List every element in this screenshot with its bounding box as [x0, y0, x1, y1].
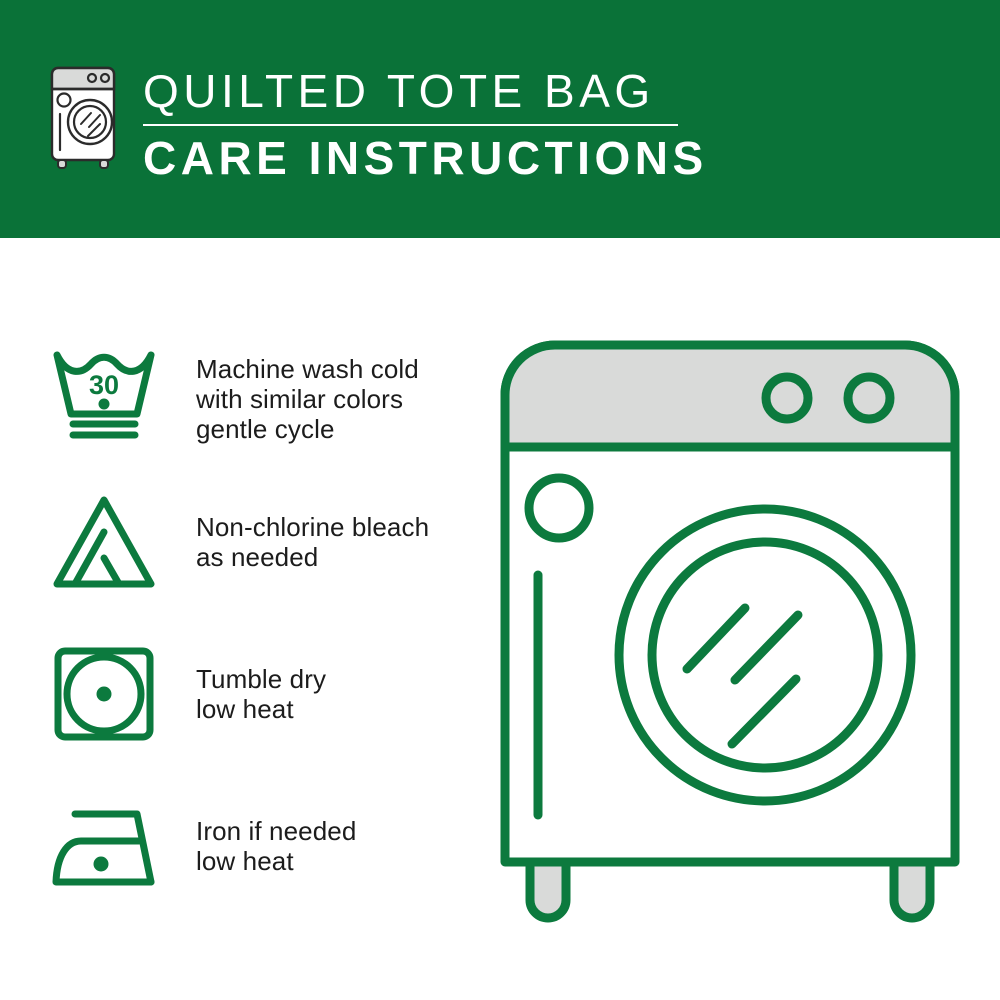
wash-tub-30-icon: 30	[48, 340, 166, 444]
header-banner: QUILTED TOTE BAG CARE INSTRUCTIONS	[0, 0, 1000, 238]
care-text-bleach: Non-chlorine bleach as needed	[196, 490, 429, 572]
header-content: QUILTED TOTE BAG CARE INSTRUCTIONS	[45, 62, 708, 184]
care-line: low heat	[196, 846, 356, 876]
care-line: low heat	[196, 694, 326, 724]
care-row-bleach: Non-chlorine bleach as needed	[48, 490, 478, 594]
machine-leg-right	[894, 860, 930, 918]
washing-machine-icon	[45, 62, 129, 170]
care-row-tumble-dry: Tumble dry low heat	[48, 642, 478, 746]
care-row-machine-wash: 30 Machine wash cold with similar colors…	[48, 340, 478, 444]
header-title-group: QUILTED TOTE BAG CARE INSTRUCTIONS	[143, 62, 708, 184]
wash-temperature-label: 30	[89, 370, 119, 400]
page-title-care-instructions: CARE INSTRUCTIONS	[143, 132, 708, 184]
care-line: Iron if needed	[196, 816, 356, 846]
tumble-dry-low-icon	[48, 642, 166, 746]
care-line: Non-chlorine bleach	[196, 512, 429, 542]
care-line: with similar colors	[196, 384, 419, 414]
iron-low-icon	[48, 794, 166, 898]
bleach-triangle-icon	[48, 490, 166, 594]
title-divider	[143, 124, 678, 126]
care-text-tumble-dry: Tumble dry low heat	[196, 642, 326, 724]
care-line: gentle cycle	[196, 414, 419, 444]
care-line: Machine wash cold	[196, 354, 419, 384]
care-text-iron: Iron if needed low heat	[196, 794, 356, 876]
page-title-product: QUILTED TOTE BAG	[143, 65, 708, 117]
care-line: Tumble dry	[196, 664, 326, 694]
care-instructions-list: 30 Machine wash cold with similar colors…	[48, 340, 478, 898]
care-text-machine-wash: Machine wash cold with similar colors ge…	[196, 340, 419, 444]
washing-machine-illustration	[495, 335, 965, 925]
care-row-iron: Iron if needed low heat	[48, 794, 478, 898]
machine-leg-left	[530, 860, 566, 918]
care-line: as needed	[196, 542, 429, 572]
